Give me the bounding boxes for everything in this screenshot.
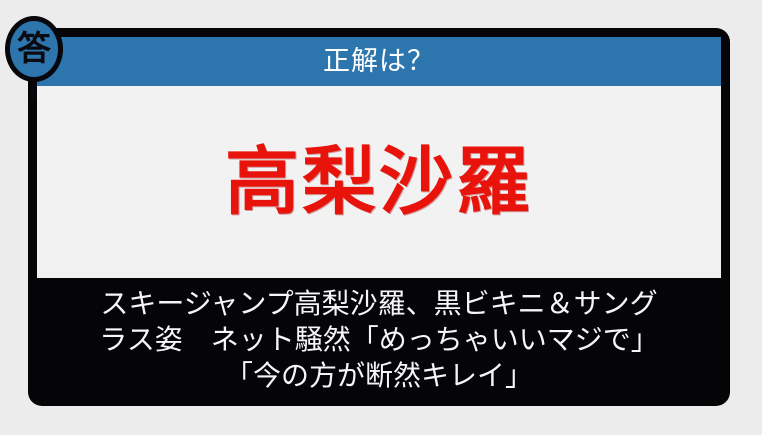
answer-text: 高梨沙羅 — [225, 145, 533, 219]
answer-sheet: 正解は？ 高梨沙羅 — [37, 37, 721, 278]
answer-badge-circle-icon: 答 — [5, 16, 63, 82]
quiz-answer-card: 正解は？ 高梨沙羅 スキージャンプ高梨沙羅、黒ビキニ＆サング ラス姿 ネット騒然… — [28, 28, 730, 406]
header-bar: 正解は？ — [37, 37, 721, 86]
header-title: 正解は？ — [323, 48, 435, 75]
answer-badge: 答 — [5, 16, 63, 82]
answer-badge-label: 答 — [17, 32, 51, 66]
caption-line-1: スキージャンプ高梨沙羅、黒ビキニ＆サング — [100, 286, 657, 322]
caption-block: スキージャンプ高梨沙羅、黒ビキニ＆サング ラス姿 ネット騒然「めっちゃいいマジで… — [37, 280, 721, 398]
answer-area: 高梨沙羅 — [37, 86, 721, 278]
caption-line-2: ラス姿 ネット騒然「めっちゃいいマジで」 — [99, 322, 658, 358]
caption-line-3: 「今の方が断然キレイ」 — [225, 358, 533, 394]
